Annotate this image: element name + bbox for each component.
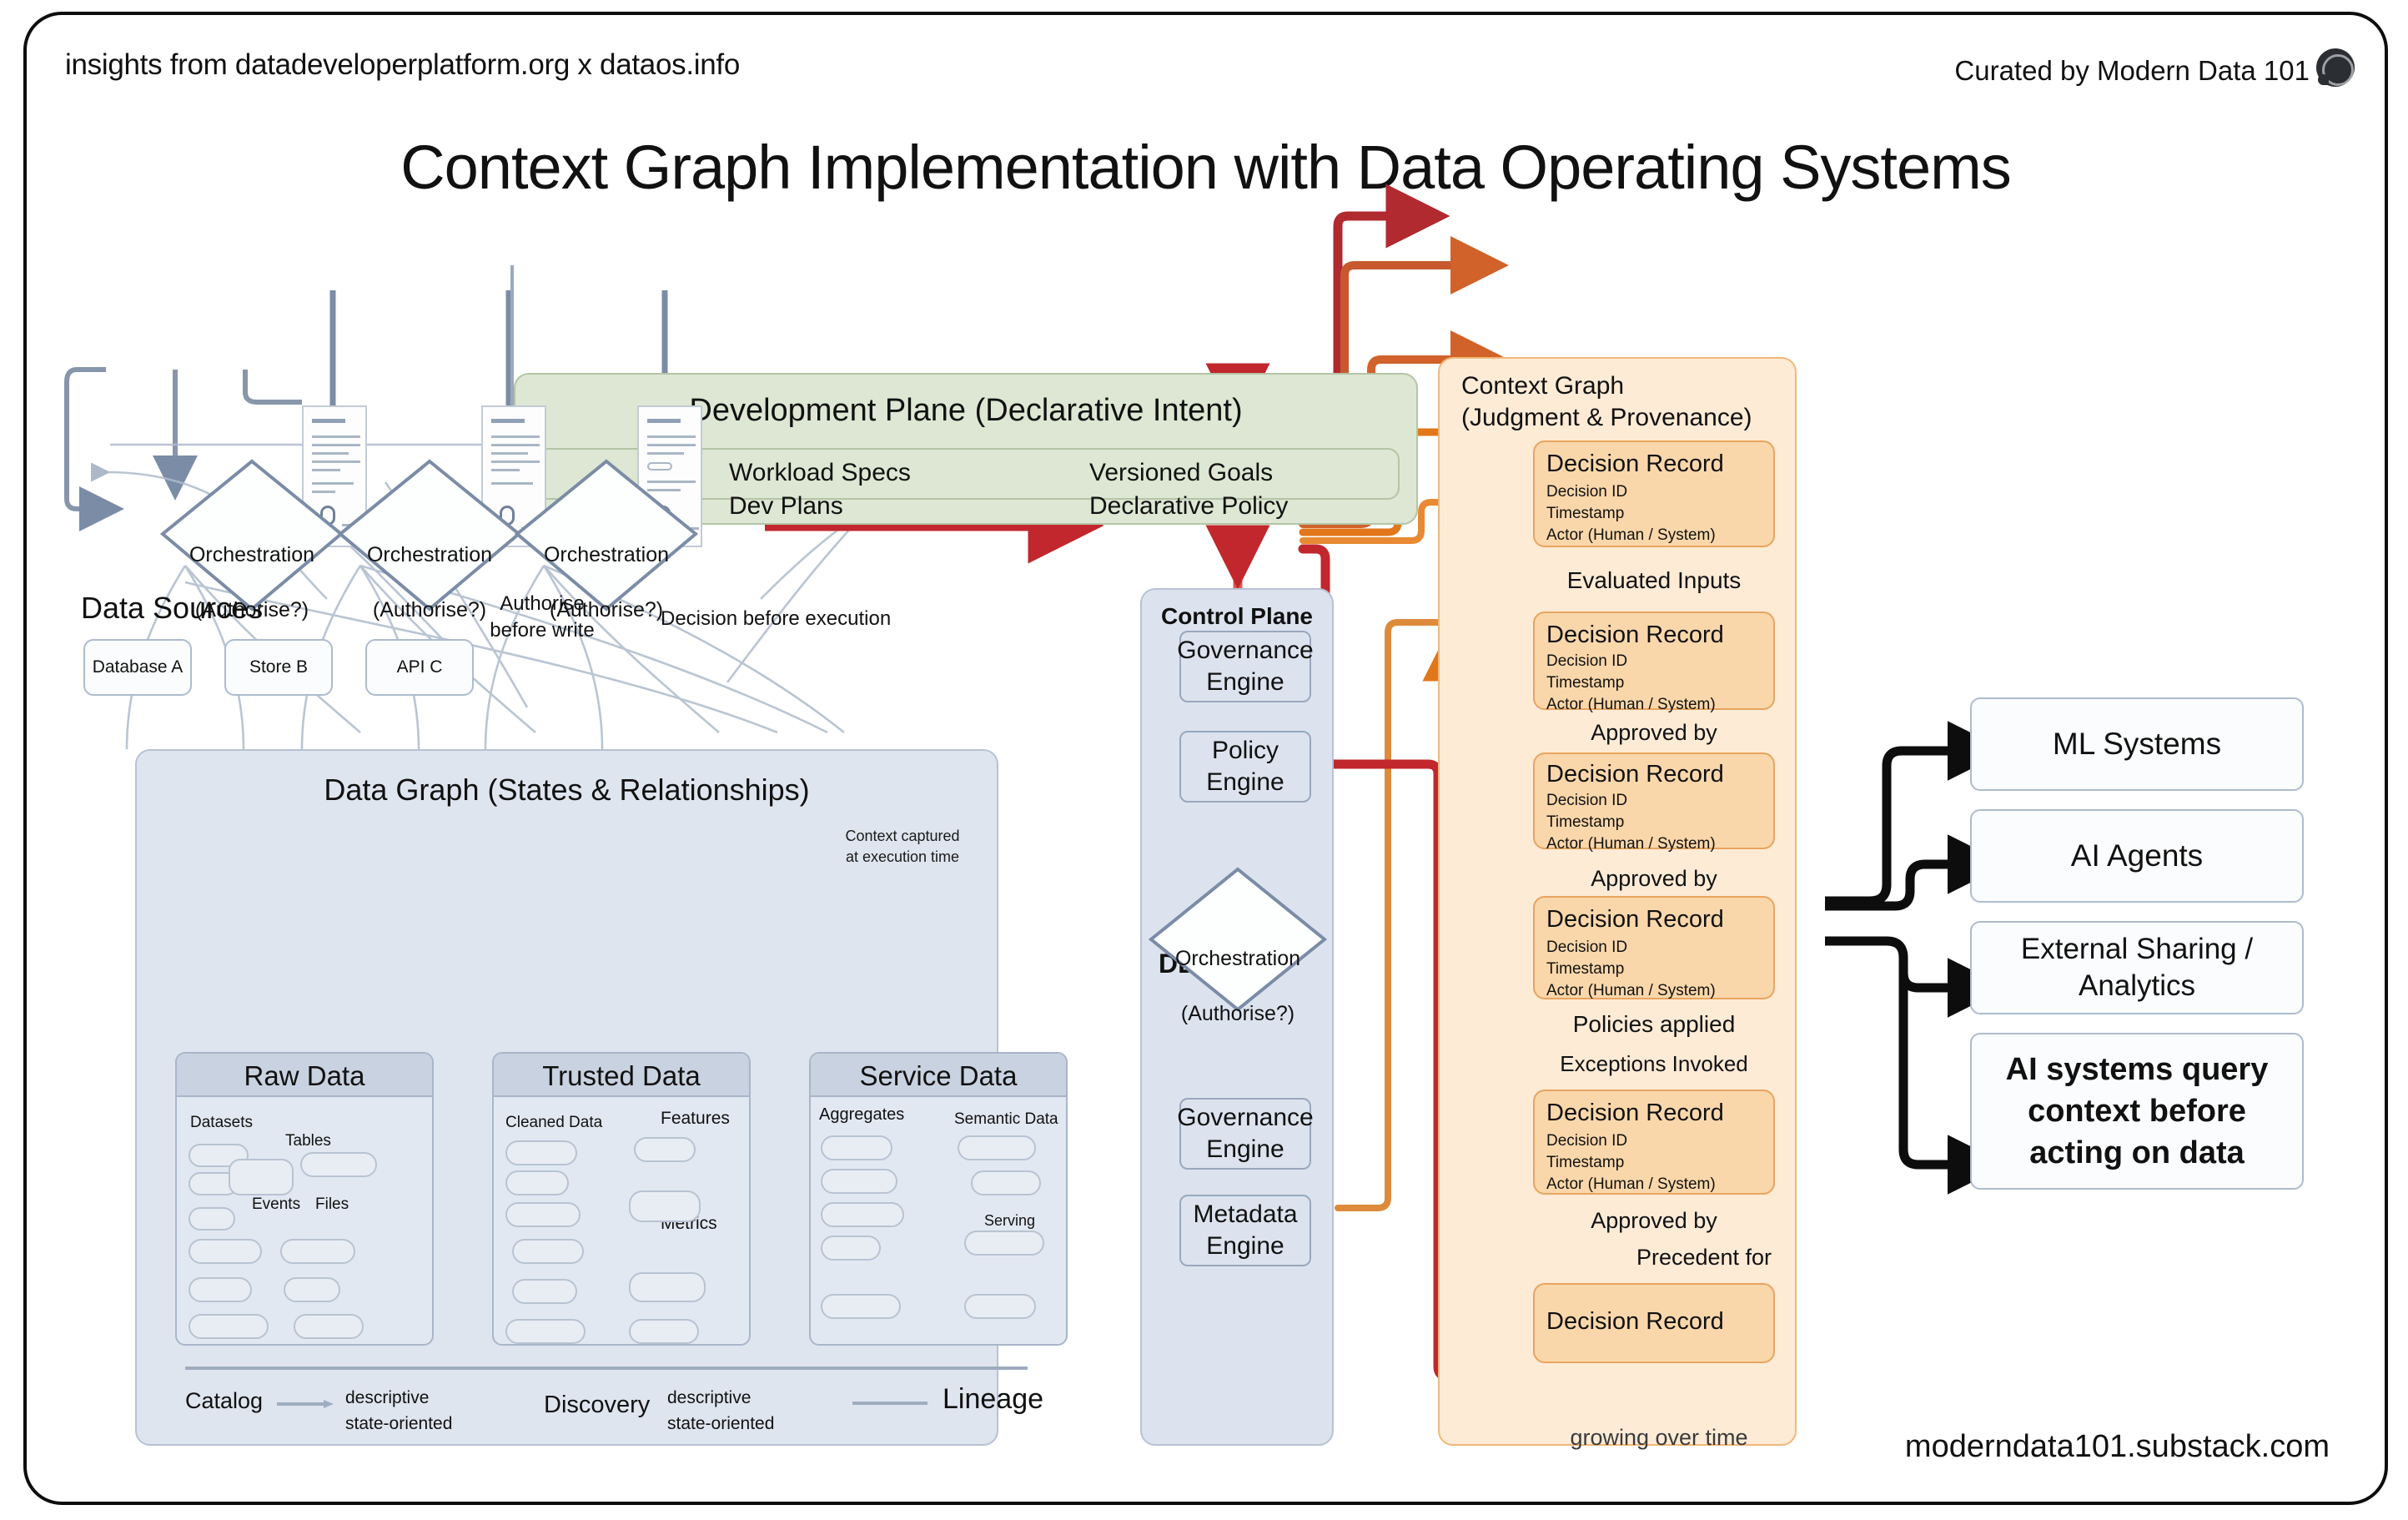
zone-tag: Datasets (190, 1114, 253, 1132)
zone-tag: Semantic Data (954, 1110, 1058, 1129)
decision-record-3[interactable]: Decision Record Decision ID Timestamp Ac… (1533, 752, 1775, 849)
data-source-store-b[interactable]: Store B (224, 639, 333, 696)
zone-title: Raw Data (177, 1060, 432, 1092)
legend-divider (185, 1366, 1028, 1370)
engine-label: Governance Engine (1177, 635, 1313, 698)
decision-record-title: Decision Record (1546, 450, 1762, 478)
decision-record-title: Decision Record (1546, 761, 1762, 788)
decision-record-2[interactable]: Decision Record Decision ID Timestamp Ac… (1533, 612, 1775, 710)
policy-engine[interactable]: Policy Engine (1179, 731, 1311, 803)
engine-label: Policy Engine (1206, 735, 1284, 798)
data-source-label: Store B (249, 657, 308, 677)
decision-record-field: Decision ID (1546, 652, 1627, 670)
context-graph-title: Context Graph (Judgment & Provenance) (1461, 370, 1752, 434)
zone-tag: Features (661, 1109, 730, 1129)
zone-tag: Tables (285, 1132, 331, 1150)
decision-record-field: Decision ID (1546, 1132, 1627, 1150)
decision-record-5[interactable]: Decision Record Decision ID Timestamp Ac… (1533, 1090, 1775, 1195)
relation-exceptions-invoked: Exceptions Invoked (1533, 1051, 1775, 1077)
decision-record-field: Timestamp (1546, 813, 1624, 831)
growing-over-time-note: growing over time (1538, 1425, 1780, 1451)
insights-credit: insights from datadeveloperplatform.org … (65, 48, 740, 82)
relation-precedent-for: Precedent for (1583, 1245, 1825, 1271)
consumer-ml-systems[interactable]: ML Systems (1970, 697, 2304, 791)
decision-record-field: Decision ID (1546, 483, 1627, 501)
consumer-ai-systems-query-context[interactable]: AI systems query context before acting o… (1970, 1033, 2304, 1190)
decision-record-1[interactable]: Decision Record Decision ID Timestamp Ac… (1533, 440, 1775, 547)
consumer-label: AI systems query context before acting o… (2006, 1049, 2269, 1174)
orchestration-label-line1: Orchestration (367, 543, 492, 566)
diagram-canvas: insights from datadeveloperplatform.org … (23, 12, 2388, 1505)
relation-approved-by-1: Approved by (1533, 720, 1775, 746)
control-plane-title: Control Plane (1142, 603, 1332, 630)
decision-record-6[interactable]: Decision Record (1533, 1283, 1775, 1363)
engine-label: Governance Engine (1177, 1102, 1313, 1165)
curated-by-label: Curated by Modern Data 101 (1954, 55, 2310, 87)
decision-record-field: Decision ID (1546, 939, 1627, 956)
zone-raw-data: Raw Data Datasets Tables Events Files (175, 1052, 434, 1346)
relation-approved-by-3: Approved by (1533, 1208, 1775, 1234)
zone-tag: Files (315, 1195, 349, 1214)
page-title: Context Graph Implementation with Data O… (27, 132, 2385, 203)
decision-record-field: Actor (Human / System) (1546, 1175, 1716, 1193)
versioned-goals-label: Versioned Goals Declarative Policy (1089, 456, 1288, 523)
authorise-before-write-label: Authorise before write (459, 591, 626, 644)
legend-catalog-sub: descriptive state-oriented (345, 1385, 452, 1437)
zone-title: Service Data (811, 1060, 1066, 1092)
data-source-api-c[interactable]: API C (365, 639, 474, 696)
zone-tag: Events (252, 1195, 300, 1214)
legend-discovery-label: Discovery (544, 1392, 650, 1419)
legend-arrow-icon (277, 1398, 335, 1410)
orchestration-label-line2: (Authorise?) (195, 598, 309, 622)
engine-label: Metadata Engine (1193, 1199, 1297, 1262)
orchestration-label-line1: Orchestration (189, 543, 314, 566)
modern-data-101-logo-icon (2316, 48, 2355, 87)
decision-record-field: Timestamp (1546, 674, 1624, 692)
context-capture-note: Context captured at execution time (823, 826, 982, 868)
relation-evaluated-inputs: Evaluated Inputs (1533, 567, 1775, 594)
consumer-external-sharing[interactable]: External Sharing / Analytics (1970, 921, 2304, 1014)
workload-specs-label: Workload Specs Dev Plans (729, 456, 911, 523)
decision-record-field: Actor (Human / System) (1546, 696, 1716, 713)
decision-record-field: Actor (Human / System) (1546, 526, 1716, 544)
legend-discovery-sub: descriptive state-oriented (667, 1385, 774, 1437)
footer-url: moderndata101.substack.com (1905, 1429, 2330, 1465)
governance-engine-top[interactable]: Governance Engine (1179, 631, 1311, 702)
orchestration-label-line2: (Authorise?) (1181, 1002, 1294, 1025)
legend-lineage-line (852, 1402, 928, 1405)
consumer-label: AI Agents (2071, 837, 2203, 875)
metadata-engine[interactable]: Metadata Engine (1179, 1195, 1311, 1266)
decision-record-title: Decision Record (1546, 1100, 1762, 1127)
decision-record-title: Decision Record (1546, 906, 1762, 934)
decision-record-field: Decision ID (1546, 792, 1627, 809)
data-graph-title: Data Graph (States & Relationships) (137, 773, 997, 808)
relation-approved-by-2: Approved by (1533, 866, 1775, 892)
data-source-label: API C (397, 657, 443, 677)
decision-record-field: Actor (Human / System) (1546, 982, 1716, 999)
orchestration-label-line1: Orchestration (1175, 947, 1300, 970)
decision-record-title: Decision Record (1546, 1308, 1762, 1336)
data-source-database-a[interactable]: Database A (83, 639, 192, 696)
decision-record-field: Timestamp (1546, 960, 1624, 978)
zone-title: Trusted Data (494, 1060, 749, 1092)
consumer-label: ML Systems (2053, 725, 2221, 763)
decision-record-4[interactable]: Decision Record Decision ID Timestamp Ac… (1533, 896, 1775, 999)
legend-lineage-label: Lineage (943, 1383, 1043, 1416)
decision-record-field: Timestamp (1546, 1154, 1624, 1171)
decision-before-execution-label: Decision before execution (661, 607, 891, 631)
zone-tag: Cleaned Data (505, 1114, 602, 1132)
consumer-ai-agents[interactable]: AI Agents (1970, 809, 2304, 903)
decision-record-field: Actor (Human / System) (1546, 835, 1716, 853)
decision-record-field: Timestamp (1546, 505, 1624, 522)
governance-engine-bottom[interactable]: Governance Engine (1179, 1098, 1311, 1170)
zone-tag: Aggregates (819, 1105, 904, 1125)
relation-policies-applied: Policies applied (1533, 1011, 1775, 1038)
consumer-label: External Sharing / Analytics (2021, 931, 2253, 1004)
decision-record-title: Decision Record (1546, 622, 1762, 649)
data-source-label: Database A (93, 657, 183, 677)
orchestration-label-line1: Orchestration (544, 543, 669, 566)
zone-service-data: Service Data Aggregates Semantic Data AP… (809, 1052, 1068, 1346)
legend-catalog-label: Catalog (185, 1388, 263, 1414)
zone-trusted-data: Trusted Data Cleaned Data Features Metri… (492, 1052, 751, 1346)
